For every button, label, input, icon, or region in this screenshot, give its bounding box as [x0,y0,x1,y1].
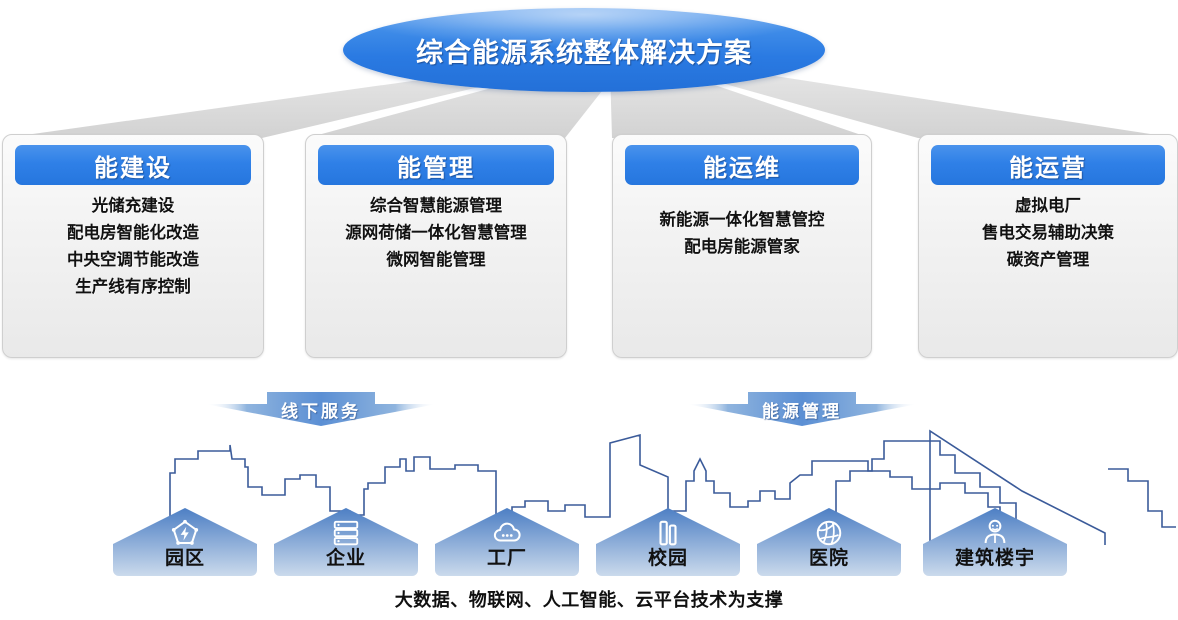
banner-label-2: 能源管理 [686,397,918,422]
footer-caption: 大数据、物联网、人工智能、云平台技术为支撑 [0,586,1178,612]
card-neng-jian-she[interactable]: 能建设 光储充建设 配电房智能化改造 中央空调节能改造 生产线有序控制 [2,134,264,358]
card-item: 微网智能管理 [312,247,560,274]
card-header-label-2: 能管理 [397,148,475,183]
house-gongchang[interactable]: 工厂 [427,508,587,576]
skyline-path-far-right [1108,469,1176,527]
banner-energy-management: 能源管理 [686,390,918,426]
card-item: 碳资产管理 [925,247,1171,274]
page-title: 综合能源系统整体解决方案 [416,31,752,70]
card-item: 虚拟电厂 [925,193,1171,220]
card-neng-guan-li[interactable]: 能管理 综合智慧能源管理 源网荷储一体化智慧管理 微网智能管理 [305,134,567,358]
house-label-3: 工厂 [427,543,587,570]
card-neng-yun-wei[interactable]: 能运维 新能源一体化智慧管控 配电房能源管家 [612,134,872,358]
card-header-label-4: 能运营 [1009,148,1087,183]
card-header-2: 能管理 [318,145,554,185]
card-body-3: 新能源一体化智慧管控 配电房能源管家 [619,207,865,261]
house-jianzhulouyu[interactable]: 建筑楼宇 [915,508,1075,576]
banner-label-1: 线下服务 [205,397,437,422]
card-item: 生产线有序控制 [9,274,257,301]
house-xiaoyuan[interactable]: 校园 [588,508,748,576]
card-header-label-3: 能运维 [703,148,781,183]
card-item: 源网荷储一体化智慧管理 [312,220,560,247]
card-header-label-1: 能建设 [94,148,172,183]
house-yiyuan[interactable]: 医院 [749,508,909,576]
house-label-1: 园区 [105,543,265,570]
banner-offline-service: 线下服务 [205,390,437,426]
diagram-canvas: 综合能源系统整体解决方案 能建设 光储充建设 配电房智能化改造 中央空调节能改造… [0,0,1178,620]
card-item: 光储充建设 [9,193,257,220]
card-item: 配电房能源管家 [619,234,865,261]
card-item: 售电交易辅助决策 [925,220,1171,247]
card-item: 中央空调节能改造 [9,247,257,274]
house-label-2: 企业 [266,543,426,570]
card-item: 综合智慧能源管理 [312,193,560,220]
house-label-4: 校园 [588,543,748,570]
house-label-5: 医院 [749,543,909,570]
house-qiye[interactable]: 企业 [266,508,426,576]
card-header-4: 能运营 [931,145,1165,185]
card-body-1: 光储充建设 配电房智能化改造 中央空调节能改造 生产线有序控制 [9,193,257,301]
card-header-1: 能建设 [15,145,251,185]
card-item: 配电房智能化改造 [9,220,257,247]
card-neng-yun-ying[interactable]: 能运营 虚拟电厂 售电交易辅助决策 碳资产管理 [918,134,1178,358]
main-title-ellipse: 综合能源系统整体解决方案 [343,8,825,92]
card-body-2: 综合智慧能源管理 源网荷储一体化智慧管理 微网智能管理 [312,193,560,274]
house-yuanqu[interactable]: 园区 [105,508,265,576]
card-body-4: 虚拟电厂 售电交易辅助决策 碳资产管理 [925,193,1171,274]
house-label-6: 建筑楼宇 [915,543,1075,570]
card-header-3: 能运维 [625,145,859,185]
card-item: 新能源一体化智慧管控 [619,207,865,234]
